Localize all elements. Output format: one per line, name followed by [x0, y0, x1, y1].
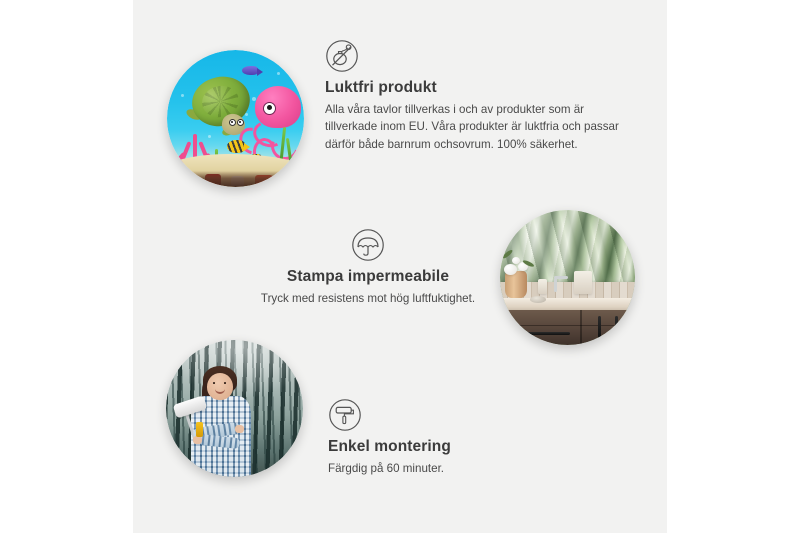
- feature-title: Enkel montering: [328, 438, 628, 456]
- screenshot-canvas: Luktfri produkt Alla våra tavlor tillver…: [0, 0, 800, 533]
- feature-enkel-montering: Enkel montering Färgdig på 60 minuter.: [328, 398, 628, 477]
- feature-body: Färgdig på 60 minuter.: [328, 460, 628, 477]
- paint-roller-icon: [328, 398, 628, 432]
- feature-title: Stampa impermeabile: [208, 268, 528, 286]
- feature-luktfri-produkt: Luktfri produkt Alla våra tavlor tillver…: [325, 39, 627, 153]
- content-panel: Luktfri produkt Alla våra tavlor tillver…: [133, 0, 667, 533]
- woman-forest-photo: [166, 340, 303, 477]
- feature-title: Luktfri produkt: [325, 79, 627, 97]
- feature-body: Alla våra tavlor tillverkas i och av pro…: [325, 101, 627, 153]
- feature-stampa-impermeabile: Stampa impermeabile Tryck med resistens …: [208, 228, 528, 307]
- underwater-cartoon-photo: [167, 50, 304, 187]
- umbrella-icon: [351, 228, 385, 262]
- no-odor-icon: [325, 39, 627, 73]
- feature-body: Tryck med resistens mot hög luftfuktighe…: [208, 290, 528, 307]
